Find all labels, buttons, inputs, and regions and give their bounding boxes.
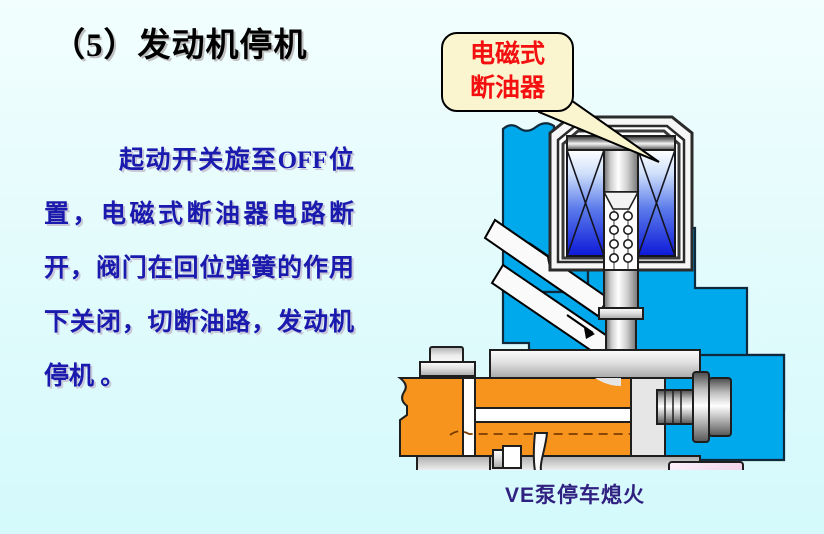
callout-balloon: 电磁式 断油器 — [441, 32, 574, 112]
callout-line-2: 断油器 — [441, 72, 574, 106]
injector-spring-block — [669, 462, 795, 470]
plunger — [599, 150, 643, 380]
figure-caption: VE泵停车熄火 — [445, 479, 705, 509]
slide-root: （5）发动机停机 起动开关旋至OFF位置，电磁式断油器电路断开，阀门在回位弹簧的… — [0, 0, 824, 534]
callout-label: 电磁式 断油器 — [441, 38, 574, 106]
distributor-assembly — [400, 347, 700, 470]
page-title: （5）发动机停机 — [52, 18, 308, 66]
callout-line-1: 电磁式 — [441, 38, 574, 72]
body-paragraph: 起动开关旋至OFF位置，电磁式断油器电路断开，阀门在回位弹簧的作用下关闭，切断油… — [44, 134, 354, 404]
